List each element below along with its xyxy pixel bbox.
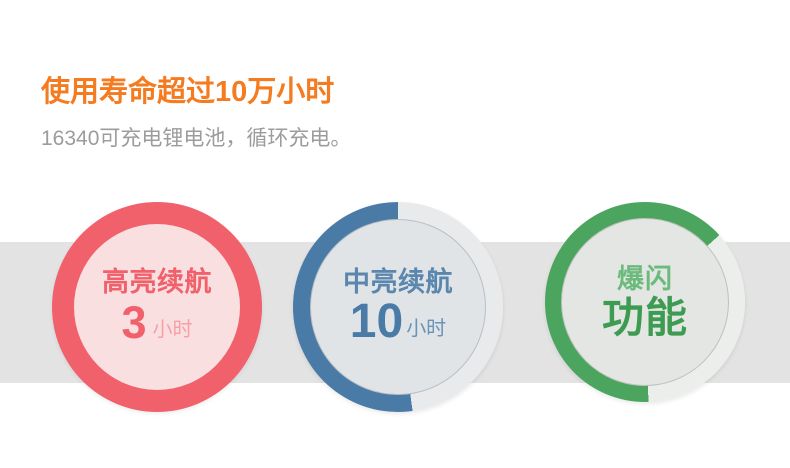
gauge-label-high-brightness: 高亮续航 — [102, 269, 212, 296]
gauge-value-row-blue: 10 小时 — [350, 298, 446, 346]
gauge-value-medium-brightness: 10 — [350, 298, 403, 346]
gauge-value-high-brightness: 3 — [121, 300, 146, 345]
gauge-strobe-function: 爆闪 功能 — [545, 202, 745, 402]
product-feature-banner: 使用寿命超过10万小时 16340可充电锂电池，循环充电。 高亮续航 3 小时 … — [0, 0, 790, 468]
page-title: 使用寿命超过10万小时 — [41, 77, 334, 109]
gauge-unit-medium-brightness: 小时 — [406, 319, 446, 339]
gauge-value-row-pink: 3 小时 — [121, 300, 192, 345]
gauge-medium-brightness-runtime: 中亮续航 10 小时 — [293, 202, 503, 412]
gauge-label-strobe: 爆闪 — [617, 266, 673, 293]
gauge-labels-green: 爆闪 功能 — [545, 202, 745, 402]
gauge-labels-blue: 中亮续航 10 小时 — [293, 202, 503, 412]
gauge-unit-high-brightness: 小时 — [153, 320, 193, 340]
page-subtitle: 16340可充电锂电池，循环充电。 — [41, 126, 351, 151]
gauge-labels-pink: 高亮续航 3 小时 — [52, 202, 262, 412]
gauge-value-strobe: 功能 — [602, 297, 688, 339]
gauge-high-brightness-runtime: 高亮续航 3 小时 — [52, 202, 262, 412]
gauge-label-medium-brightness: 中亮续航 — [343, 269, 453, 296]
